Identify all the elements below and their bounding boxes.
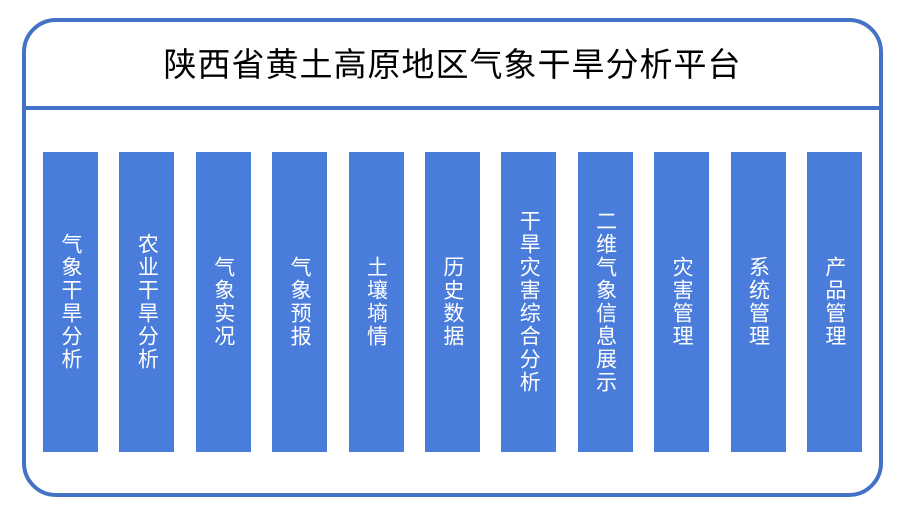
nav-item-historical-data[interactable]: 历史数据 [425, 152, 480, 452]
nav-item-label: 产品管理 [821, 256, 848, 348]
nav-bar-list: 气象干旱分析 农业干旱分析 气象实况 气象预报 土壤墒情 历史数据 干旱灾害综合… [26, 110, 879, 493]
nav-item-weather-forecast[interactable]: 气象预报 [272, 152, 327, 452]
nav-item-label: 历史数据 [439, 256, 466, 348]
nav-item-soil-moisture[interactable]: 土壤墒情 [349, 152, 404, 452]
application-frame: 陕西省黄土高原地区气象干旱分析平台 气象干旱分析 农业干旱分析 气象实况 气象预… [22, 18, 883, 497]
nav-item-agricultural-drought-analysis[interactable]: 农业干旱分析 [119, 152, 174, 452]
nav-item-weather-observation[interactable]: 气象实况 [196, 152, 251, 452]
nav-item-system-management[interactable]: 系统管理 [731, 152, 786, 452]
nav-item-label: 干旱灾害综合分析 [515, 210, 542, 394]
title-bar: 陕西省黄土高原地区气象干旱分析平台 [26, 22, 879, 110]
nav-item-label: 气象预报 [286, 256, 313, 348]
nav-item-2d-weather-information-display[interactable]: 二维气象信息展示 [578, 152, 633, 452]
nav-item-label: 系统管理 [745, 256, 772, 348]
nav-item-label: 气象干旱分析 [57, 233, 84, 371]
nav-item-label: 灾害管理 [668, 256, 695, 348]
page-title: 陕西省黄土高原地区气象干旱分析平台 [164, 48, 742, 81]
nav-item-label: 土壤墒情 [363, 256, 390, 348]
nav-item-product-management[interactable]: 产品管理 [807, 152, 862, 452]
nav-item-disaster-management[interactable]: 灾害管理 [654, 152, 709, 452]
nav-item-drought-disaster-comprehensive-analysis[interactable]: 干旱灾害综合分析 [501, 152, 556, 452]
nav-item-label: 气象实况 [210, 256, 237, 348]
nav-item-label: 农业干旱分析 [133, 233, 160, 371]
nav-item-label: 二维气象信息展示 [592, 210, 619, 394]
nav-item-meteorological-drought-analysis[interactable]: 气象干旱分析 [43, 152, 98, 452]
